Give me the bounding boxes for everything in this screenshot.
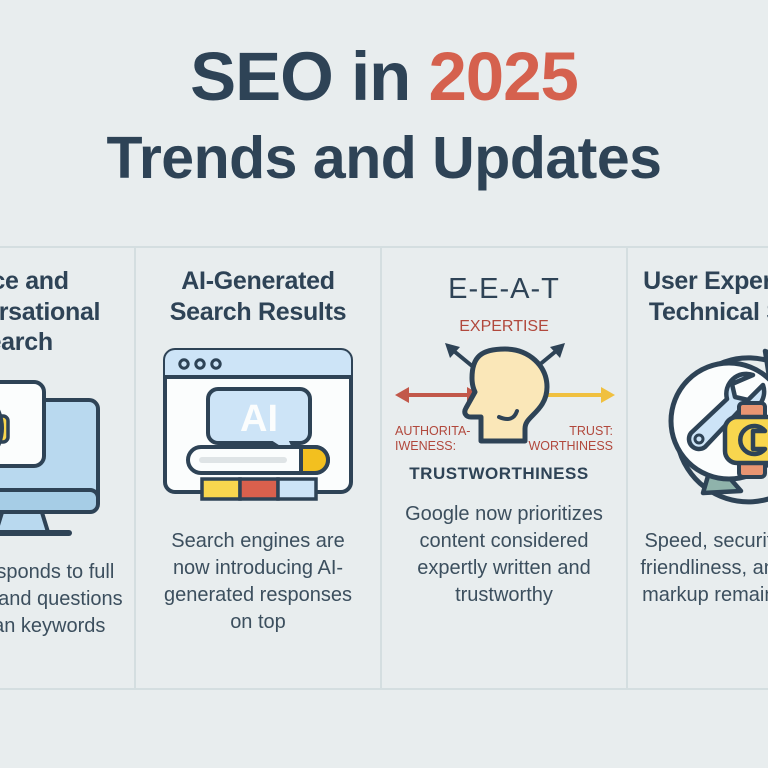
diagram-label-authoritativeness-line1: AUTHORITA- xyxy=(395,424,470,438)
head-expertise-diagram-icon: EXPERTISE xyxy=(387,311,621,491)
diagram-label-trust-line2: WORTHINESS xyxy=(529,439,614,453)
chatbot-monitor-icon xyxy=(0,370,112,545)
ai-browser-window-icon: AI xyxy=(160,339,356,514)
diagram-label-trustworthiness: TRUSTWORTHINESS xyxy=(409,464,588,483)
column-e-e-a-t: E-E-A-T EXPERTISE xyxy=(382,248,628,688)
column-voice-conversational-search: Voice and Conversational Search xyxy=(0,248,136,688)
wrench-gear-refresh-icon xyxy=(647,339,768,514)
column-ux-technical-signals: User Experience & Technical Signals xyxy=(628,248,768,688)
column-heading: User Experience & Technical Signals xyxy=(628,266,768,327)
columns-band: Voice and Conversational Search xyxy=(0,246,768,690)
column-ai-generated-search-results: AI-Generated Search Results AI xyxy=(136,248,382,688)
column-heading: E-E-A-T xyxy=(448,272,560,307)
column-heading: AI-Generated Search Results xyxy=(150,266,366,327)
diagram-label-expertise: EXPERTISE xyxy=(459,318,549,335)
title-prefix: SEO in xyxy=(190,38,428,115)
page-subtitle: Trends and Updates xyxy=(0,128,768,190)
column-heading: Voice and Conversational Search xyxy=(0,266,135,358)
column-body-text: Search responds to full sentences and qu… xyxy=(0,559,135,640)
page-title: SEO in 2025 xyxy=(0,42,768,112)
column-body-text: Search engines are now introducing AI-ge… xyxy=(150,528,366,636)
diagram-label-authoritativeness-line2: IWENESS: xyxy=(395,439,456,453)
column-body-text: Speed, security, mobile-friendliness, an… xyxy=(628,528,768,609)
infographic-header: SEO in 2025 Trends and Updates xyxy=(0,0,768,246)
column-body-text: Google now prioritizes content considere… xyxy=(396,501,612,609)
title-year: 2025 xyxy=(428,38,578,115)
diagram-label-trust-line1: TRUST: xyxy=(569,424,613,438)
svg-text:AI: AI xyxy=(240,398,278,440)
